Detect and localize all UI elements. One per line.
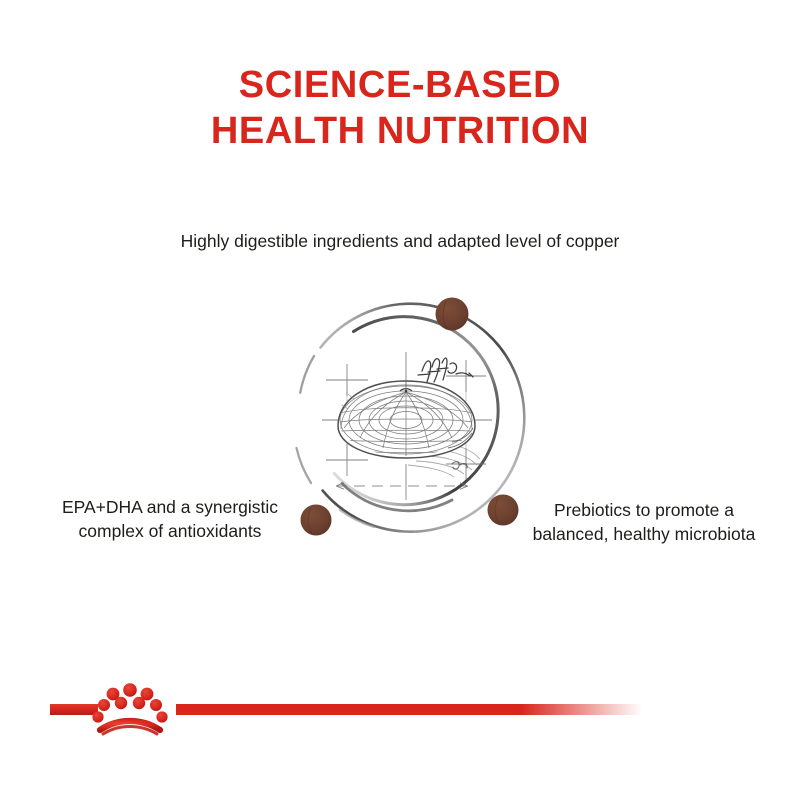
brand-footer bbox=[0, 672, 800, 742]
footer-bar-left bbox=[50, 704, 98, 715]
title-line-1: SCIENCE-BASED bbox=[0, 62, 800, 108]
handwritten-annotation-icon bbox=[418, 358, 473, 382]
benefit-text-prebiotics: Prebiotics to promote a balanced, health… bbox=[524, 498, 764, 546]
page-title: SCIENCE-BASED HEALTH NUTRITION bbox=[0, 62, 800, 154]
title-line-2: HEALTH NUTRITION bbox=[0, 108, 800, 154]
kibble-diagram bbox=[256, 268, 556, 568]
royal-canin-crown-logo bbox=[92, 683, 167, 734]
kibble-dot-bottom-left bbox=[301, 505, 332, 536]
benefit-text-digestibility: Highly digestible ingredients and adapte… bbox=[150, 229, 650, 253]
benefit-text-antioxidants: EPA+DHA and a synergistic complex of ant… bbox=[52, 495, 288, 543]
footer-bar-right bbox=[176, 704, 642, 715]
kibble-dot-top bbox=[436, 298, 469, 331]
kibble-dot-bottom-right bbox=[488, 495, 519, 526]
